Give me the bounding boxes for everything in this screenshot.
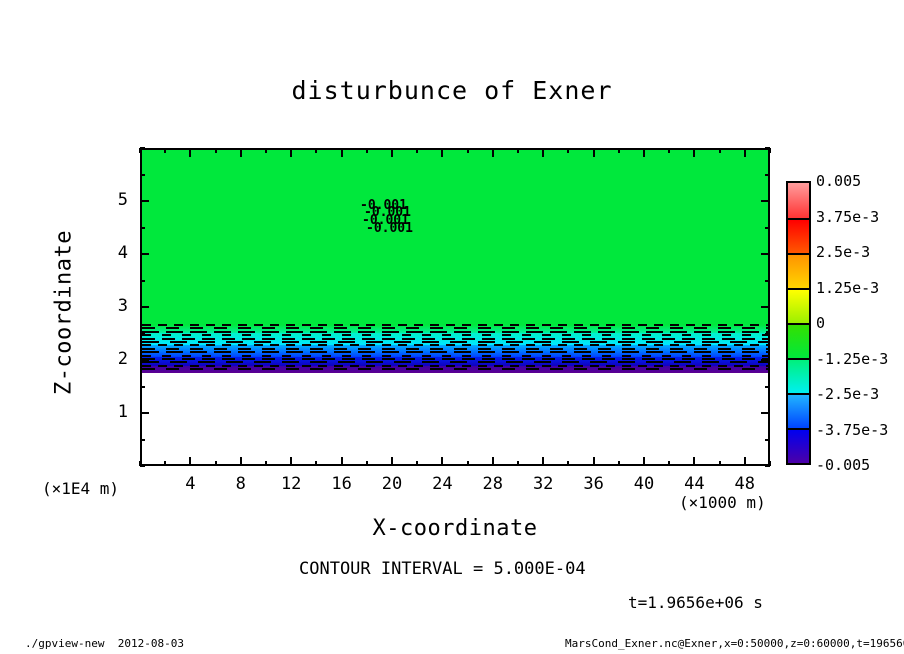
y-tick-label: 3 xyxy=(98,296,128,316)
x-tick-top xyxy=(567,148,569,153)
x-tick-top xyxy=(618,148,620,153)
contour-line xyxy=(142,361,768,363)
page-title: disturbunce of Exner xyxy=(0,76,904,105)
colorbar-tick-label: 1.25e-3 xyxy=(816,279,879,297)
x-tick xyxy=(492,457,494,466)
x-tick-top xyxy=(416,148,418,153)
contour-line xyxy=(142,341,768,343)
x-tick-top xyxy=(467,148,469,153)
contour-line xyxy=(142,348,768,350)
colorbar-tick-label: 2.5e-3 xyxy=(816,243,870,261)
x-tick xyxy=(643,457,645,466)
x-tick-top xyxy=(315,148,317,153)
contour-interval-text: CONTOUR INTERVAL = 5.000E-04 xyxy=(299,559,586,579)
x-tick-top xyxy=(164,148,166,153)
y-tick-right xyxy=(761,200,770,202)
y-tick-right xyxy=(765,147,770,149)
y-tick xyxy=(140,439,145,441)
colorbar-band xyxy=(788,218,809,253)
x-tick xyxy=(618,461,620,466)
field-region-blank xyxy=(142,373,768,464)
x-tick xyxy=(416,461,418,466)
y-tick xyxy=(140,333,145,335)
colorbar-band xyxy=(788,253,809,288)
y-tick-right xyxy=(761,412,770,414)
y-tick-right xyxy=(765,174,770,176)
y-tick-label: 5 xyxy=(98,190,128,210)
colorbar-tick-label: 0 xyxy=(816,314,825,332)
x-tick-top xyxy=(542,148,544,157)
plot-canvas: -0.001 -0.001 -0.001 -0.001 xyxy=(142,150,768,464)
y-tick-label: 1 xyxy=(98,402,128,422)
contour-line xyxy=(142,368,768,370)
contour-line xyxy=(142,331,768,333)
x-axis-unit: (×1000 m) xyxy=(679,493,766,512)
y-tick-right xyxy=(761,359,770,361)
x-tick xyxy=(467,461,469,466)
y-tick xyxy=(140,359,149,361)
contour-lines xyxy=(142,320,768,375)
x-tick-top xyxy=(215,148,217,153)
colorbar-tick-label: 0.005 xyxy=(816,172,861,190)
footer-command-text: ./gpview-new 2012-08-03 xyxy=(25,637,184,650)
y-axis-unit: (×1E4 m) xyxy=(42,479,119,498)
y-tick-label: 4 xyxy=(98,243,128,263)
footer-source-text: MarsCond_Exner.nc@Exner,x=0:50000,z=0:60… xyxy=(565,637,904,650)
colorbar-band xyxy=(788,428,809,463)
y-tick xyxy=(140,386,145,388)
x-tick xyxy=(719,461,721,466)
contour-line xyxy=(142,327,768,329)
x-tick xyxy=(391,457,393,466)
y-tick xyxy=(140,465,145,467)
colorbar-tick-label: -0.005 xyxy=(816,456,870,474)
x-axis-title: X-coordinate xyxy=(240,516,670,541)
x-tick-top xyxy=(189,148,191,157)
x-tick xyxy=(265,461,267,466)
contour-line xyxy=(142,365,768,367)
x-tick-top xyxy=(290,148,292,157)
x-tick-top xyxy=(441,148,443,157)
x-tick xyxy=(668,461,670,466)
x-tick xyxy=(315,461,317,466)
y-tick xyxy=(140,253,149,255)
x-tick xyxy=(215,461,217,466)
x-tick xyxy=(744,457,746,466)
plot-area: -0.001 -0.001 -0.001 -0.001 xyxy=(140,148,770,466)
x-tick-top xyxy=(744,148,746,157)
contour-line xyxy=(142,344,768,346)
x-tick-top xyxy=(341,148,343,157)
y-tick xyxy=(140,412,149,414)
colorbar-tick-label: -2.5e-3 xyxy=(816,385,879,403)
x-tick xyxy=(189,457,191,466)
x-tick xyxy=(441,457,443,466)
y-tick-right xyxy=(765,465,770,467)
field-region-zero xyxy=(142,150,768,325)
time-stamp-text: t=1.9656e+06 s xyxy=(628,593,763,612)
x-tick xyxy=(693,457,695,466)
colorbar-band xyxy=(788,393,809,428)
x-tick-top xyxy=(643,148,645,157)
colorbar-tick-label: -3.75e-3 xyxy=(816,421,888,439)
x-tick-top xyxy=(492,148,494,157)
x-tick-top xyxy=(593,148,595,157)
x-tick-label: 48 xyxy=(715,474,775,494)
x-tick xyxy=(341,457,343,466)
y-tick-right xyxy=(765,386,770,388)
x-tick-top xyxy=(668,148,670,153)
x-tick-top xyxy=(240,148,242,157)
y-tick-right xyxy=(765,439,770,441)
x-tick-top xyxy=(391,148,393,157)
x-tick-top xyxy=(265,148,267,153)
x-tick xyxy=(164,461,166,466)
y-tick-right xyxy=(761,306,770,308)
y-tick-right xyxy=(765,333,770,335)
x-tick-top xyxy=(719,148,721,153)
colorbar-band xyxy=(788,358,809,393)
x-tick xyxy=(567,461,569,466)
colorbar-band xyxy=(788,323,809,358)
y-tick-right xyxy=(765,280,770,282)
y-tick xyxy=(140,147,145,149)
colorbar-band xyxy=(788,288,809,323)
y-tick-right xyxy=(761,253,770,255)
colorbar xyxy=(786,181,811,465)
y-tick-label: 2 xyxy=(98,349,128,369)
x-tick xyxy=(240,457,242,466)
contour-line xyxy=(142,334,768,336)
x-tick xyxy=(593,457,595,466)
contour-line xyxy=(142,351,768,353)
x-tick xyxy=(517,461,519,466)
y-tick xyxy=(140,200,149,202)
y-tick xyxy=(140,174,145,176)
x-tick-top xyxy=(517,148,519,153)
colorbar-tick-label: -1.25e-3 xyxy=(816,350,888,368)
y-tick-right xyxy=(765,227,770,229)
contour-line xyxy=(142,355,768,357)
x-tick-top xyxy=(366,148,368,153)
x-tick-top xyxy=(693,148,695,157)
y-tick xyxy=(140,306,149,308)
y-tick xyxy=(140,280,145,282)
contour-line xyxy=(142,324,768,326)
y-tick xyxy=(140,227,145,229)
contour-line xyxy=(142,358,768,360)
x-tick xyxy=(366,461,368,466)
contour-value-label: -0.001 xyxy=(366,221,413,236)
y-axis-title: Z-coordinate xyxy=(52,213,77,413)
colorbar-tick-label: 3.75e-3 xyxy=(816,208,879,226)
contour-line xyxy=(142,338,768,340)
x-tick xyxy=(290,457,292,466)
x-tick xyxy=(542,457,544,466)
colorbar-band xyxy=(788,183,809,218)
